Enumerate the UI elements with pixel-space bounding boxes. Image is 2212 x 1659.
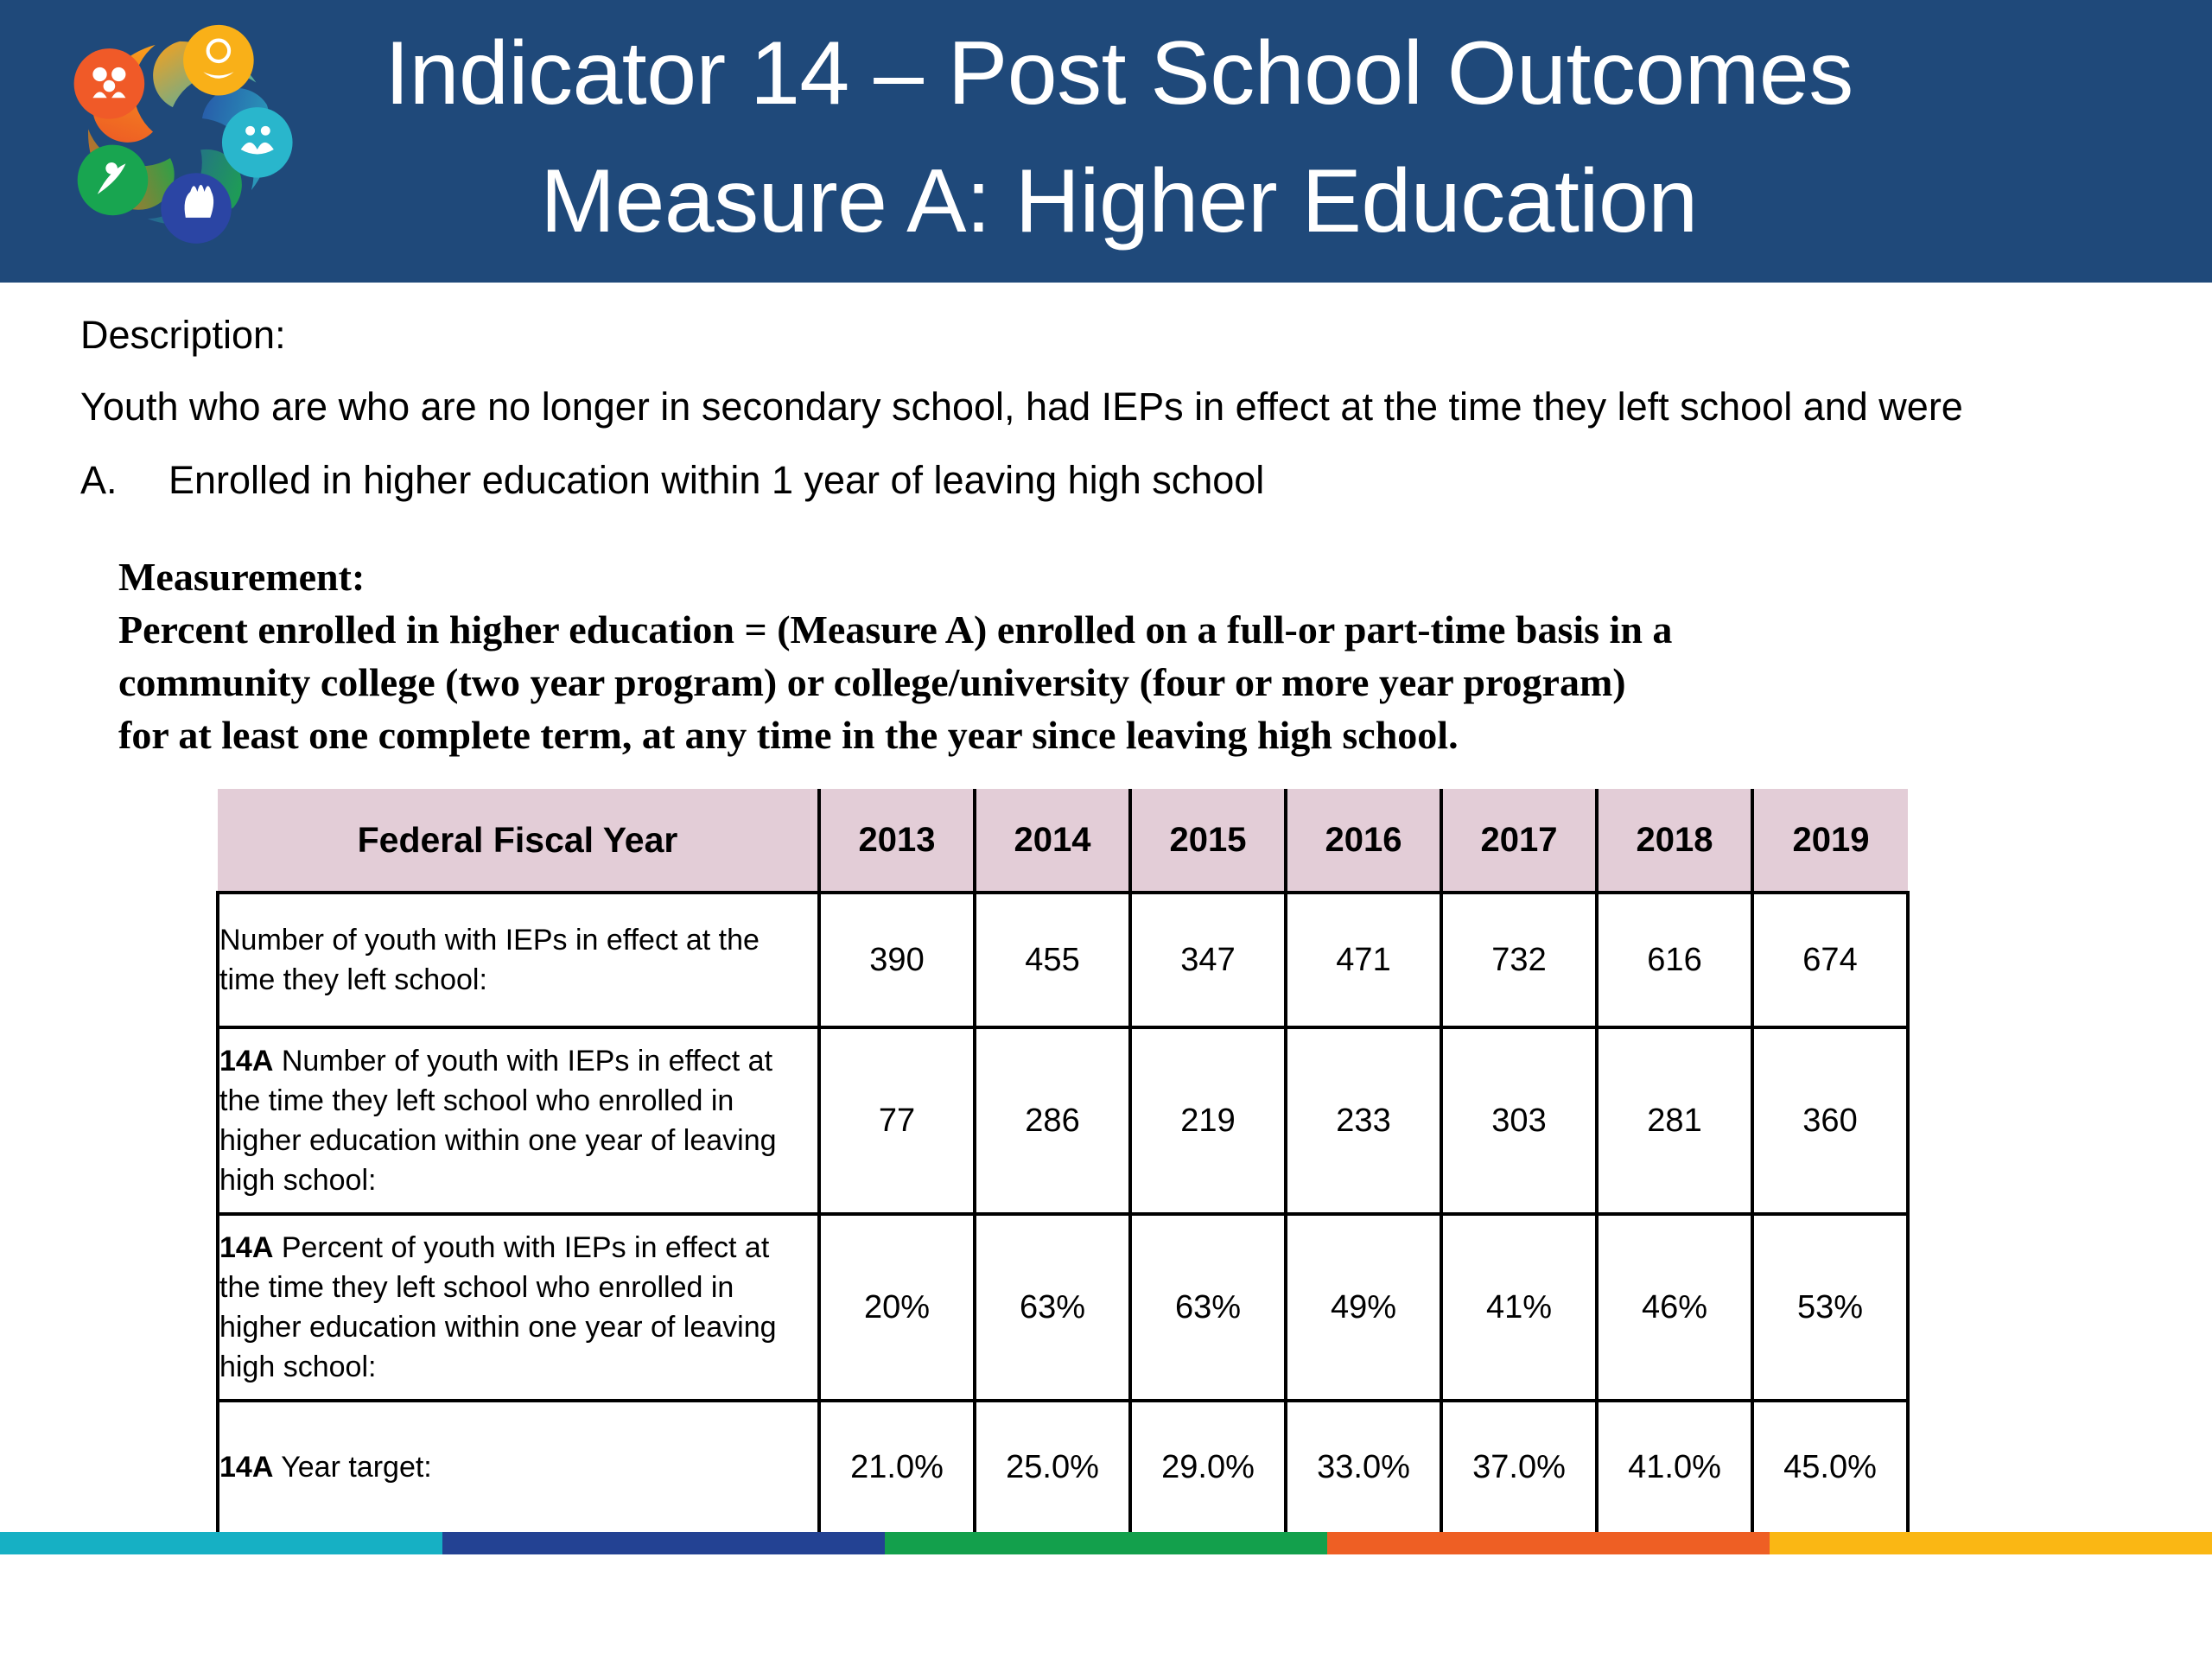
outcomes-table-wrapper: Federal Fiscal Year 2013 2014 2015 2016 … xyxy=(216,789,1906,1535)
footer-bar-segment-3 xyxy=(885,1532,1327,1554)
cell-r0-c3: 471 xyxy=(1286,893,1441,1027)
cell-r1-c6: 360 xyxy=(1752,1027,1908,1214)
cell-r1-c2: 219 xyxy=(1130,1027,1286,1214)
row-label-14a-percent: 14A Percent of youth with IEPs in effect… xyxy=(218,1214,819,1401)
table-header-year-2014: 2014 xyxy=(975,789,1130,893)
title-banner: Indicator 14 – Post School Outcomes Meas… xyxy=(0,0,2212,283)
list-item-a-text: Enrolled in higher education within 1 ye… xyxy=(168,458,1264,502)
page-title: Indicator 14 – Post School Outcomes Meas… xyxy=(294,10,1944,265)
five-petal-pinwheel-logo xyxy=(62,16,297,251)
table-row: 14A Percent of youth with IEPs in effect… xyxy=(218,1214,1908,1401)
measurement-line-1: Percent enrolled in higher education = (… xyxy=(118,603,1976,656)
list-item-a-marker: A. xyxy=(80,458,168,503)
cell-r0-c1: 455 xyxy=(975,893,1130,1027)
row-prefix: 14A xyxy=(219,1231,273,1264)
row-label-14a-number: 14A Number of youth with IEPs in effect … xyxy=(218,1027,819,1214)
footer-bar-segment-5 xyxy=(1770,1532,2212,1554)
table-header-row: Federal Fiscal Year 2013 2014 2015 2016 … xyxy=(218,789,1908,893)
table-header-year-2019: 2019 xyxy=(1752,789,1908,893)
cell-r3-c3: 33.0% xyxy=(1286,1401,1441,1534)
footer-color-bar xyxy=(0,1532,2212,1554)
table-header-year-2017: 2017 xyxy=(1441,789,1597,893)
cell-r3-c1: 25.0% xyxy=(975,1401,1130,1534)
title-line-1: Indicator 14 – Post School Outcomes xyxy=(294,10,1944,138)
table-header-year-2016: 2016 xyxy=(1286,789,1441,893)
cell-r0-c2: 347 xyxy=(1130,893,1286,1027)
table-header-year-2013: 2013 xyxy=(819,789,975,893)
row-label-text: Number of youth with IEPs in effect at t… xyxy=(219,924,760,996)
row-label-total-youth: Number of youth with IEPs in effect at t… xyxy=(218,893,819,1027)
title-line-2: Measure A: Higher Education xyxy=(294,138,1944,266)
cell-r3-c6: 45.0% xyxy=(1752,1401,1908,1534)
row-label-14a-target: 14A Year target: xyxy=(218,1401,819,1534)
cell-r0-c0: 390 xyxy=(819,893,975,1027)
cell-r1-c0: 77 xyxy=(819,1027,975,1214)
outcomes-table: Federal Fiscal Year 2013 2014 2015 2016 … xyxy=(216,789,1910,1535)
cell-r2-c1: 63% xyxy=(975,1214,1130,1401)
list-item-a: A.Enrolled in higher education within 1 … xyxy=(80,458,1264,503)
description-label: Description: xyxy=(80,313,286,358)
slide-body: Description: Youth who are who are no lo… xyxy=(0,283,2212,1532)
cell-r1-c5: 281 xyxy=(1597,1027,1752,1214)
footer-bar-segment-2 xyxy=(442,1532,885,1554)
measurement-label: Measurement: xyxy=(118,550,1976,603)
row-prefix: 14A xyxy=(219,1045,273,1077)
table-header-year-2018: 2018 xyxy=(1597,789,1752,893)
cell-r2-c2: 63% xyxy=(1130,1214,1286,1401)
description-text: Youth who are who are no longer in secon… xyxy=(80,385,1963,429)
cell-r2-c4: 41% xyxy=(1441,1214,1597,1401)
row-label-text: Year target: xyxy=(273,1451,431,1484)
measurement-line-2: community college (two year program) or … xyxy=(118,656,1976,709)
table-row: 14A Year target: 21.0% 25.0% 29.0% 33.0%… xyxy=(218,1401,1908,1534)
cell-r1-c4: 303 xyxy=(1441,1027,1597,1214)
row-prefix: 14A xyxy=(219,1451,273,1484)
table-header-year-2015: 2015 xyxy=(1130,789,1286,893)
cell-r0-c6: 674 xyxy=(1752,893,1908,1027)
cell-r2-c0: 20% xyxy=(819,1214,975,1401)
footer-bar-segment-1 xyxy=(0,1532,442,1554)
row-label-text: Percent of youth with IEPs in effect at … xyxy=(219,1231,777,1383)
cell-r3-c2: 29.0% xyxy=(1130,1401,1286,1534)
cell-r3-c5: 41.0% xyxy=(1597,1401,1752,1534)
cell-r2-c5: 46% xyxy=(1597,1214,1752,1401)
measurement-block: Measurement: Percent enrolled in higher … xyxy=(118,550,1976,761)
cell-r1-c1: 286 xyxy=(975,1027,1130,1214)
cell-r2-c6: 53% xyxy=(1752,1214,1908,1401)
cell-r2-c3: 49% xyxy=(1286,1214,1441,1401)
cell-r3-c0: 21.0% xyxy=(819,1401,975,1534)
cell-r0-c4: 732 xyxy=(1441,893,1597,1027)
table-row: 14A Number of youth with IEPs in effect … xyxy=(218,1027,1908,1214)
table-row: Number of youth with IEPs in effect at t… xyxy=(218,893,1908,1027)
table-header-label: Federal Fiscal Year xyxy=(218,789,819,893)
cell-r0-c5: 616 xyxy=(1597,893,1752,1027)
footer-bar-segment-4 xyxy=(1327,1532,1770,1554)
measurement-line-3: for at least one complete term, at any t… xyxy=(118,709,1976,761)
cell-r1-c3: 233 xyxy=(1286,1027,1441,1214)
cell-r3-c4: 37.0% xyxy=(1441,1401,1597,1534)
row-label-text: Number of youth with IEPs in effect at t… xyxy=(219,1045,777,1197)
